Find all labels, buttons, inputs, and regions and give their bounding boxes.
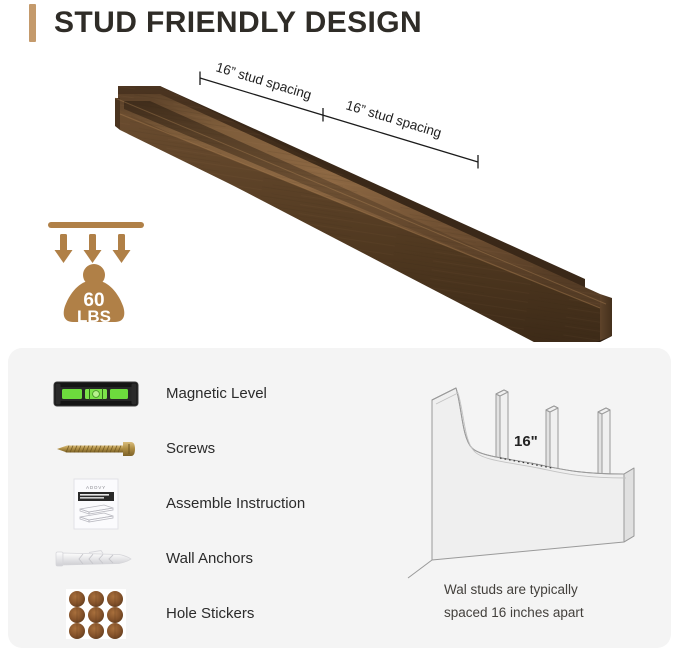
instruction-booklet-icon: ADOVY — [48, 476, 144, 531]
list-item: Wall Anchors — [48, 531, 378, 586]
stud-spacing-value: 16" — [514, 433, 538, 450]
svg-text:ADOVY: ADOVY — [86, 485, 106, 490]
page-title: STUD FRIENDLY DESIGN — [54, 6, 422, 40]
screw-icon — [48, 421, 144, 476]
title-accent-bar — [29, 4, 36, 42]
caption-line-2: spaced 16 inches apart — [444, 601, 674, 624]
accessory-label: Magnetic Level — [166, 385, 267, 402]
list-item: ADOVY Assemble Instruction — [48, 476, 378, 531]
list-item: Hole Stickers — [48, 586, 378, 641]
accessory-label: Wall Anchors — [166, 550, 253, 567]
stud-diagram-caption: Wal studs are typically spaced 16 inches… — [444, 578, 674, 624]
dimension-label-right: 16” stud spacing — [344, 98, 443, 141]
caption-line-1: Wal studs are typically — [444, 578, 674, 601]
wall-stud-diagram: 16" — [396, 382, 656, 582]
list-item: Magnetic Level — [48, 366, 378, 421]
weight-capacity-badge: 60 LBS — [44, 218, 148, 328]
load-arrows-icon — [55, 234, 131, 263]
shelf-bar-icon — [48, 222, 144, 228]
weight-unit: LBS — [77, 307, 111, 326]
accessory-label: Screws — [166, 440, 215, 457]
spirit-level-icon — [48, 366, 144, 421]
dimension-label-left: 16” stud spacing — [214, 60, 313, 103]
accessory-label: Hole Stickers — [166, 605, 254, 622]
hole-sticker-sheet-icon — [48, 586, 144, 641]
wood-shelf — [115, 86, 612, 342]
included-accessories-list: Magnetic Level — [48, 366, 378, 641]
page-header: STUD FRIENDLY DESIGN — [0, 0, 679, 46]
wall-anchor-icon — [48, 531, 144, 586]
accessory-label: Assemble Instruction — [166, 495, 305, 512]
list-item: Screws — [48, 421, 378, 476]
